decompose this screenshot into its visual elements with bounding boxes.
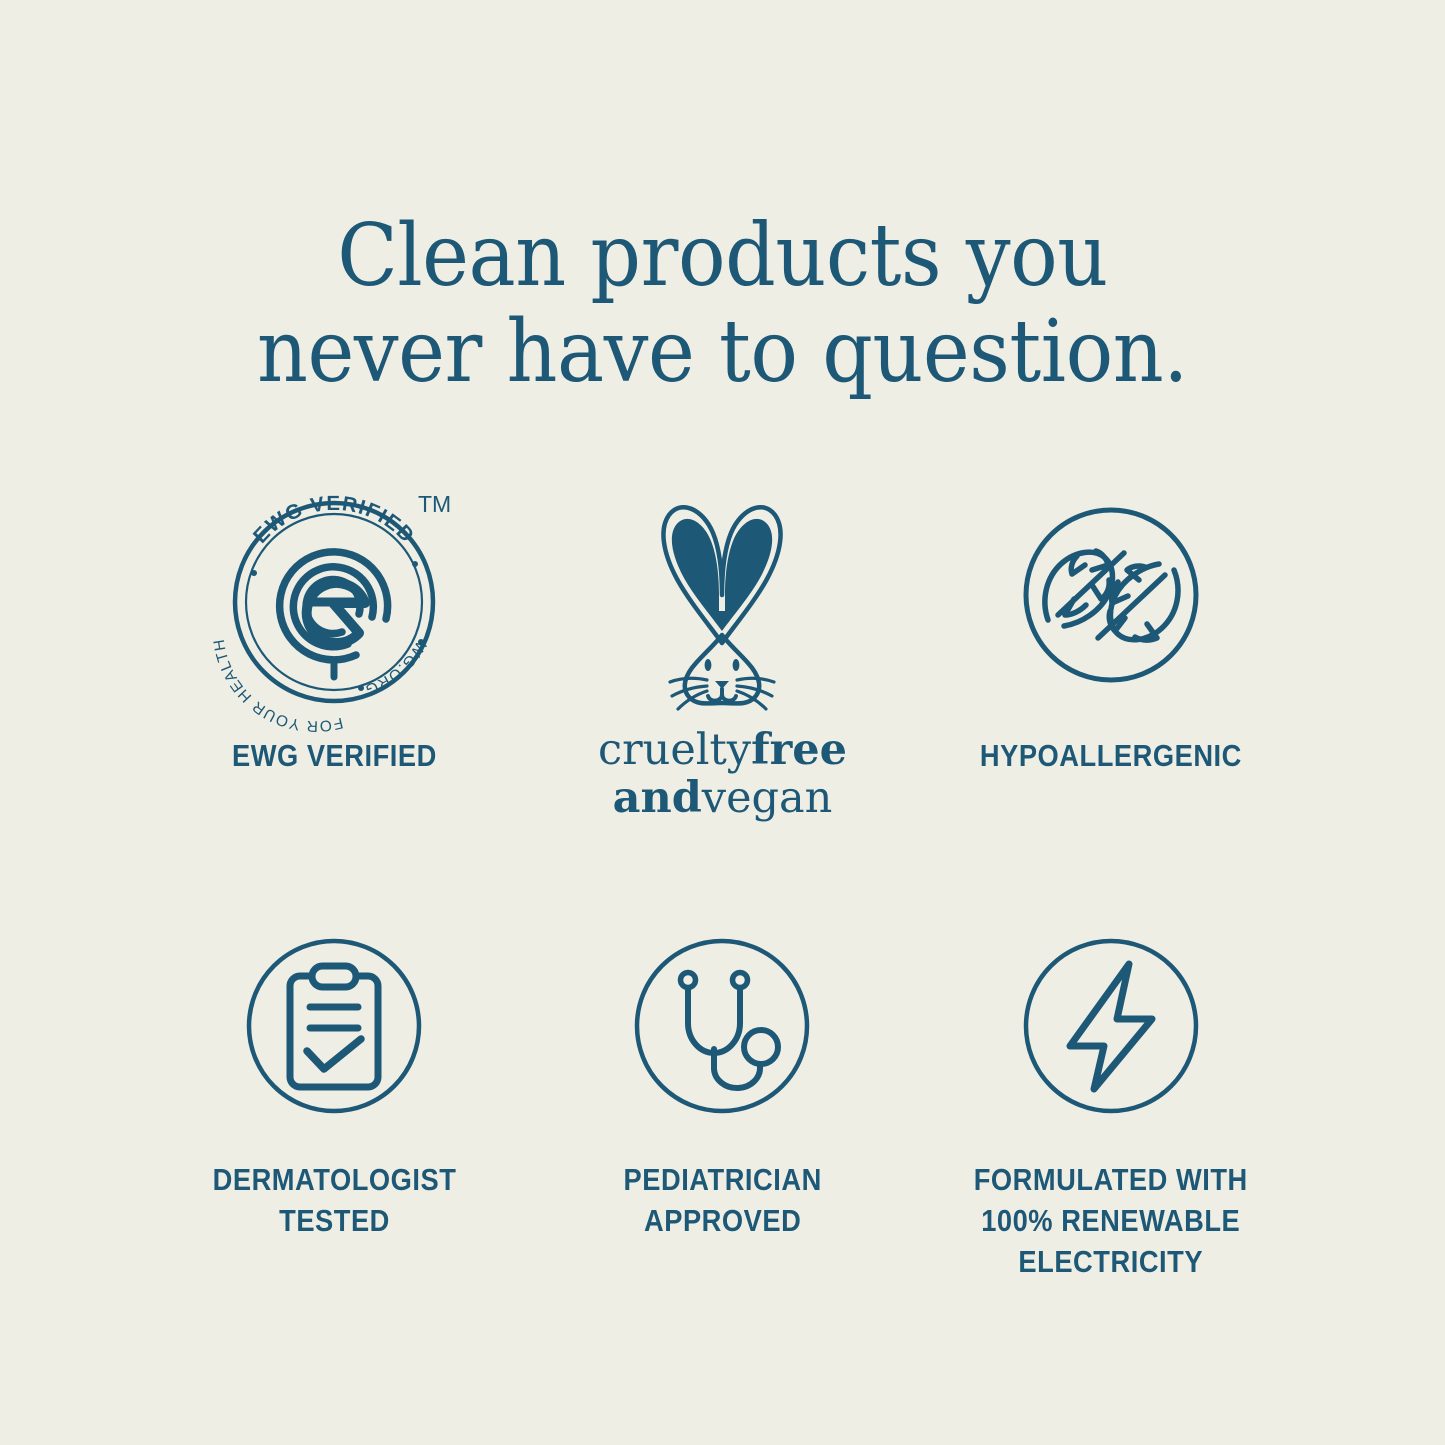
badge-cruelty-free-and-vegan: crueltyfree andvegan xyxy=(528,470,916,822)
badge-pediatrician-approved: PEDIATRICIAN APPROVED xyxy=(528,928,916,1283)
wordmark-free: free xyxy=(751,725,847,775)
wordmark-vegan: vegan xyxy=(702,773,833,823)
page-title-line-2: never have to question. xyxy=(58,304,1387,400)
badge-caption: FORMULATED WITH 100% RENEWABLE ELECTRICI… xyxy=(974,1160,1248,1283)
ewg-verified-seal-icon: TM EWG VERIFIED EWG.ORG FOR YOUR HEALTH xyxy=(209,470,459,720)
badge-hypoallergenic: HYPOALLERGENIC xyxy=(917,470,1305,822)
clipboard-check-circle-icon xyxy=(234,928,434,1124)
badge-caption: HYPOALLERGENIC xyxy=(980,736,1242,777)
badge-caption: EWG VERIFIED xyxy=(232,736,437,777)
trademark-mark: TM xyxy=(418,491,451,517)
stethoscope-circle-icon xyxy=(622,928,822,1124)
wordmark-cruelty: cruelty xyxy=(598,725,751,775)
badge-caption: PEDIATRICIAN APPROVED xyxy=(623,1160,821,1242)
wordmark-and: and xyxy=(613,773,702,823)
badge-grid: TM EWG VERIFIED EWG.ORG FOR YOUR HEALTH xyxy=(140,470,1305,1283)
badge-ewg-verified: TM EWG VERIFIED EWG.ORG FOR YOUR HEALTH xyxy=(140,470,528,822)
badge-renewable-electricity: FORMULATED WITH 100% RENEWABLE ELECTRICI… xyxy=(917,928,1305,1283)
page-title: Clean products you never have to questio… xyxy=(0,208,1445,401)
claims-panel: Clean products you never have to questio… xyxy=(0,0,1445,1445)
badge-dermatologist-tested: DERMATOLOGIST TESTED xyxy=(140,928,528,1283)
cruelty-free-wordmark: crueltyfree andvegan xyxy=(598,726,847,822)
seal-top-arc-text: EWG VERIFIED xyxy=(249,492,419,548)
two-feathers-circle-icon xyxy=(986,470,1236,720)
lightning-bolt-circle-icon xyxy=(1011,928,1211,1124)
page-title-line-1: Clean products you xyxy=(58,208,1387,304)
bunny-heart-ears-icon xyxy=(597,470,847,720)
badge-caption: DERMATOLOGIST TESTED xyxy=(212,1160,456,1242)
